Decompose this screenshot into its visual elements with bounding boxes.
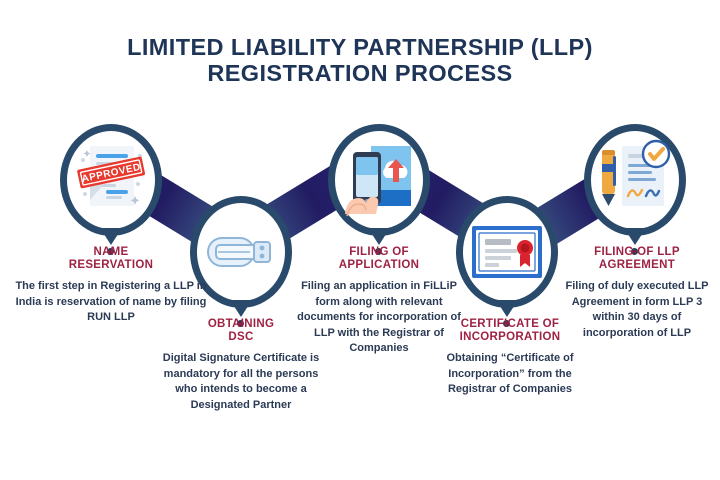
step-5-heading-line-1: FILING OF LLP [563, 246, 711, 259]
approved-document-icon: APPROVED [74, 138, 148, 222]
step-1-heading: NAME RESERVATION [13, 246, 209, 272]
step-3-heading-line-2: APPLICATION [291, 259, 467, 272]
step-5-heading: FILING OF LLP AGREEMENT [563, 246, 711, 272]
certificate-seal-icon [469, 222, 545, 282]
step-pin-4[interactable] [456, 196, 558, 324]
pin-4-tip [496, 300, 518, 317]
step-1-heading-line-2: RESERVATION [13, 259, 209, 272]
pin-3-tip [368, 228, 390, 245]
pin-2-tip [230, 300, 252, 317]
step-1-heading-line-1: NAME [13, 246, 209, 259]
step-4-body: Obtaining “Certificate of Incorporation”… [428, 351, 592, 398]
pin-5-tip [624, 228, 646, 245]
step-3-heading-line-1: FILING OF [291, 246, 467, 259]
title-line-2: REGISTRATION PROCESS [0, 60, 720, 86]
infographic-canvas: LIMITED LIABILITY PARTNERSHIP (LLP) REGI… [0, 0, 720, 480]
step-pin-1[interactable]: APPROVED [60, 124, 162, 252]
step-pin-5[interactable] [584, 124, 686, 252]
mobile-cloud-upload-icon [341, 138, 417, 222]
pen-signed-document-icon [596, 138, 674, 222]
step-text-1: NAME RESERVATION The first step in Regis… [13, 246, 209, 326]
step-3-heading: FILING OF APPLICATION [291, 246, 467, 272]
pin-1-tip [100, 228, 122, 245]
step-5-heading-line-2: AGREEMENT [563, 259, 711, 272]
usb-token-icon [204, 220, 278, 284]
step-pin-3[interactable] [328, 124, 430, 252]
page-title: LIMITED LIABILITY PARTNERSHIP (LLP) REGI… [0, 34, 720, 86]
step-text-5: FILING OF LLP AGREEMENT Filing of duly e… [563, 246, 711, 341]
title-line-1: LIMITED LIABILITY PARTNERSHIP (LLP) [0, 34, 720, 60]
step-5-body: Filing of duly executed LLP Agreement in… [563, 279, 711, 341]
step-2-body: Digital Signature Certificate is mandato… [155, 351, 327, 413]
